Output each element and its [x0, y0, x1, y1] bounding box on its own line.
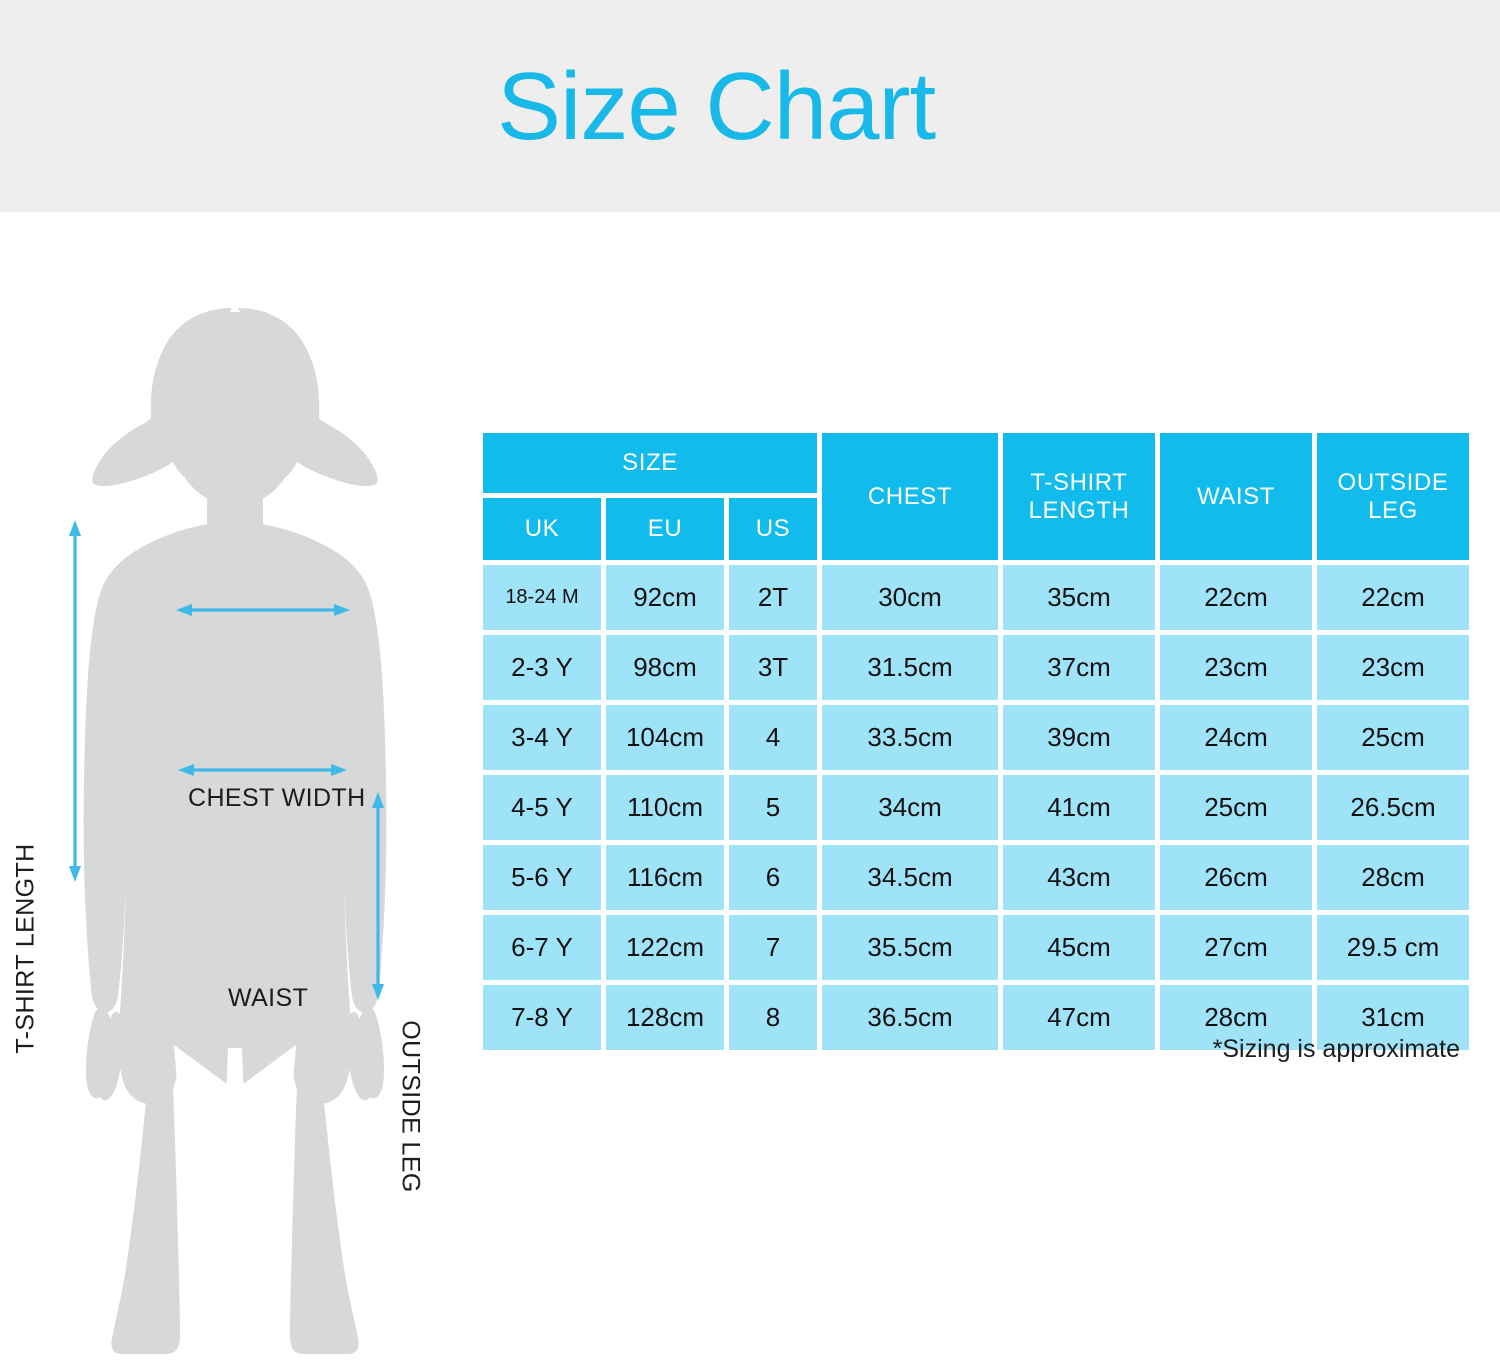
cell-waist: 24cm [1160, 705, 1312, 770]
cell-uk: 18-24 M [483, 565, 601, 630]
cell-tshirt-length: 39cm [1003, 705, 1155, 770]
cell-waist: 26cm [1160, 845, 1312, 910]
cell-us: 3T [729, 635, 817, 700]
table-header: SIZE CHEST T-SHIRT LENGTH WAIST OUTSIDE … [483, 433, 1469, 560]
cell-eu: 122cm [606, 915, 724, 980]
column-header-eu: EU [606, 498, 724, 560]
cell-uk: 2-3 Y [483, 635, 601, 700]
column-header-uk: UK [483, 498, 601, 560]
table-header-group-row: SIZE CHEST T-SHIRT LENGTH WAIST OUTSIDE … [483, 433, 1469, 493]
chest-width-label: CHEST WIDTH [188, 784, 366, 813]
cell-chest: 30cm [822, 565, 998, 630]
tshirt-length-label: T-SHIRT LENGTH [12, 839, 41, 1059]
cell-us: 2T [729, 565, 817, 630]
cell-chest: 34.5cm [822, 845, 998, 910]
cell-chest: 34cm [822, 775, 998, 840]
table-row: 18-24 M 92cm 2T 30cm 35cm 22cm 22cm [483, 565, 1469, 630]
waist-label: WAIST [228, 984, 308, 1013]
cell-tshirt-length: 37cm [1003, 635, 1155, 700]
table-row: 2-3 Y 98cm 3T 31.5cm 37cm 23cm 23cm [483, 635, 1469, 700]
cell-eu: 98cm [606, 635, 724, 700]
column-header-tshirt-length: T-SHIRT LENGTH [1003, 433, 1155, 560]
cell-uk: 5-6 Y [483, 845, 601, 910]
cell-us: 4 [729, 705, 817, 770]
cell-tshirt-length: 43cm [1003, 845, 1155, 910]
column-group-size: SIZE [483, 433, 817, 493]
cell-tshirt-length: 45cm [1003, 915, 1155, 980]
cell-outside-leg: 22cm [1317, 565, 1469, 630]
cell-eu: 110cm [606, 775, 724, 840]
cell-uk: 6-7 Y [483, 915, 601, 980]
cell-tshirt-length: 41cm [1003, 775, 1155, 840]
table-row: 3-4 Y 104cm 4 33.5cm 39cm 24cm 25cm [483, 705, 1469, 770]
cell-eu: 116cm [606, 845, 724, 910]
cell-uk: 3-4 Y [483, 705, 601, 770]
column-header-us: US [729, 498, 817, 560]
size-table: SIZE CHEST T-SHIRT LENGTH WAIST OUTSIDE … [478, 428, 1474, 1055]
sizing-footnote: *Sizing is approximate [478, 1035, 1460, 1064]
table-row: 5-6 Y 116cm 6 34.5cm 43cm 26cm 28cm [483, 845, 1469, 910]
cell-waist: 23cm [1160, 635, 1312, 700]
cell-us: 5 [729, 775, 817, 840]
cell-outside-leg: 29.5 cm [1317, 915, 1469, 980]
outside-leg-label: OUTSIDE LEG [396, 1007, 425, 1207]
cell-us: 7 [729, 915, 817, 980]
table-body: 18-24 M 92cm 2T 30cm 35cm 22cm 22cm 2-3 … [483, 565, 1469, 1050]
size-table-container: SIZE CHEST T-SHIRT LENGTH WAIST OUTSIDE … [478, 428, 1460, 1055]
cell-outside-leg: 25cm [1317, 705, 1469, 770]
cell-waist: 25cm [1160, 775, 1312, 840]
page-title: Size Chart [497, 52, 935, 162]
column-header-outside-leg: OUTSIDE LEG [1317, 433, 1469, 560]
cell-waist: 22cm [1160, 565, 1312, 630]
cell-uk: 4-5 Y [483, 775, 601, 840]
cell-eu: 92cm [606, 565, 724, 630]
cell-outside-leg: 28cm [1317, 845, 1469, 910]
cell-outside-leg: 23cm [1317, 635, 1469, 700]
measurement-figure-panel: CHEST WIDTH WAIST T-SHIRT LENGTH OUTSIDE… [0, 212, 470, 1365]
cell-chest: 31.5cm [822, 635, 998, 700]
table-row: 6-7 Y 122cm 7 35.5cm 45cm 27cm 29.5 cm [483, 915, 1469, 980]
header-band: Size Chart [0, 0, 1500, 212]
table-row: 4-5 Y 110cm 5 34cm 41cm 25cm 26.5cm [483, 775, 1469, 840]
cell-outside-leg: 26.5cm [1317, 775, 1469, 840]
column-header-chest: CHEST [822, 433, 998, 560]
cell-waist: 27cm [1160, 915, 1312, 980]
cell-us: 6 [729, 845, 817, 910]
column-header-waist: WAIST [1160, 433, 1312, 560]
cell-eu: 104cm [606, 705, 724, 770]
cell-chest: 33.5cm [822, 705, 998, 770]
cell-tshirt-length: 35cm [1003, 565, 1155, 630]
cell-chest: 35.5cm [822, 915, 998, 980]
